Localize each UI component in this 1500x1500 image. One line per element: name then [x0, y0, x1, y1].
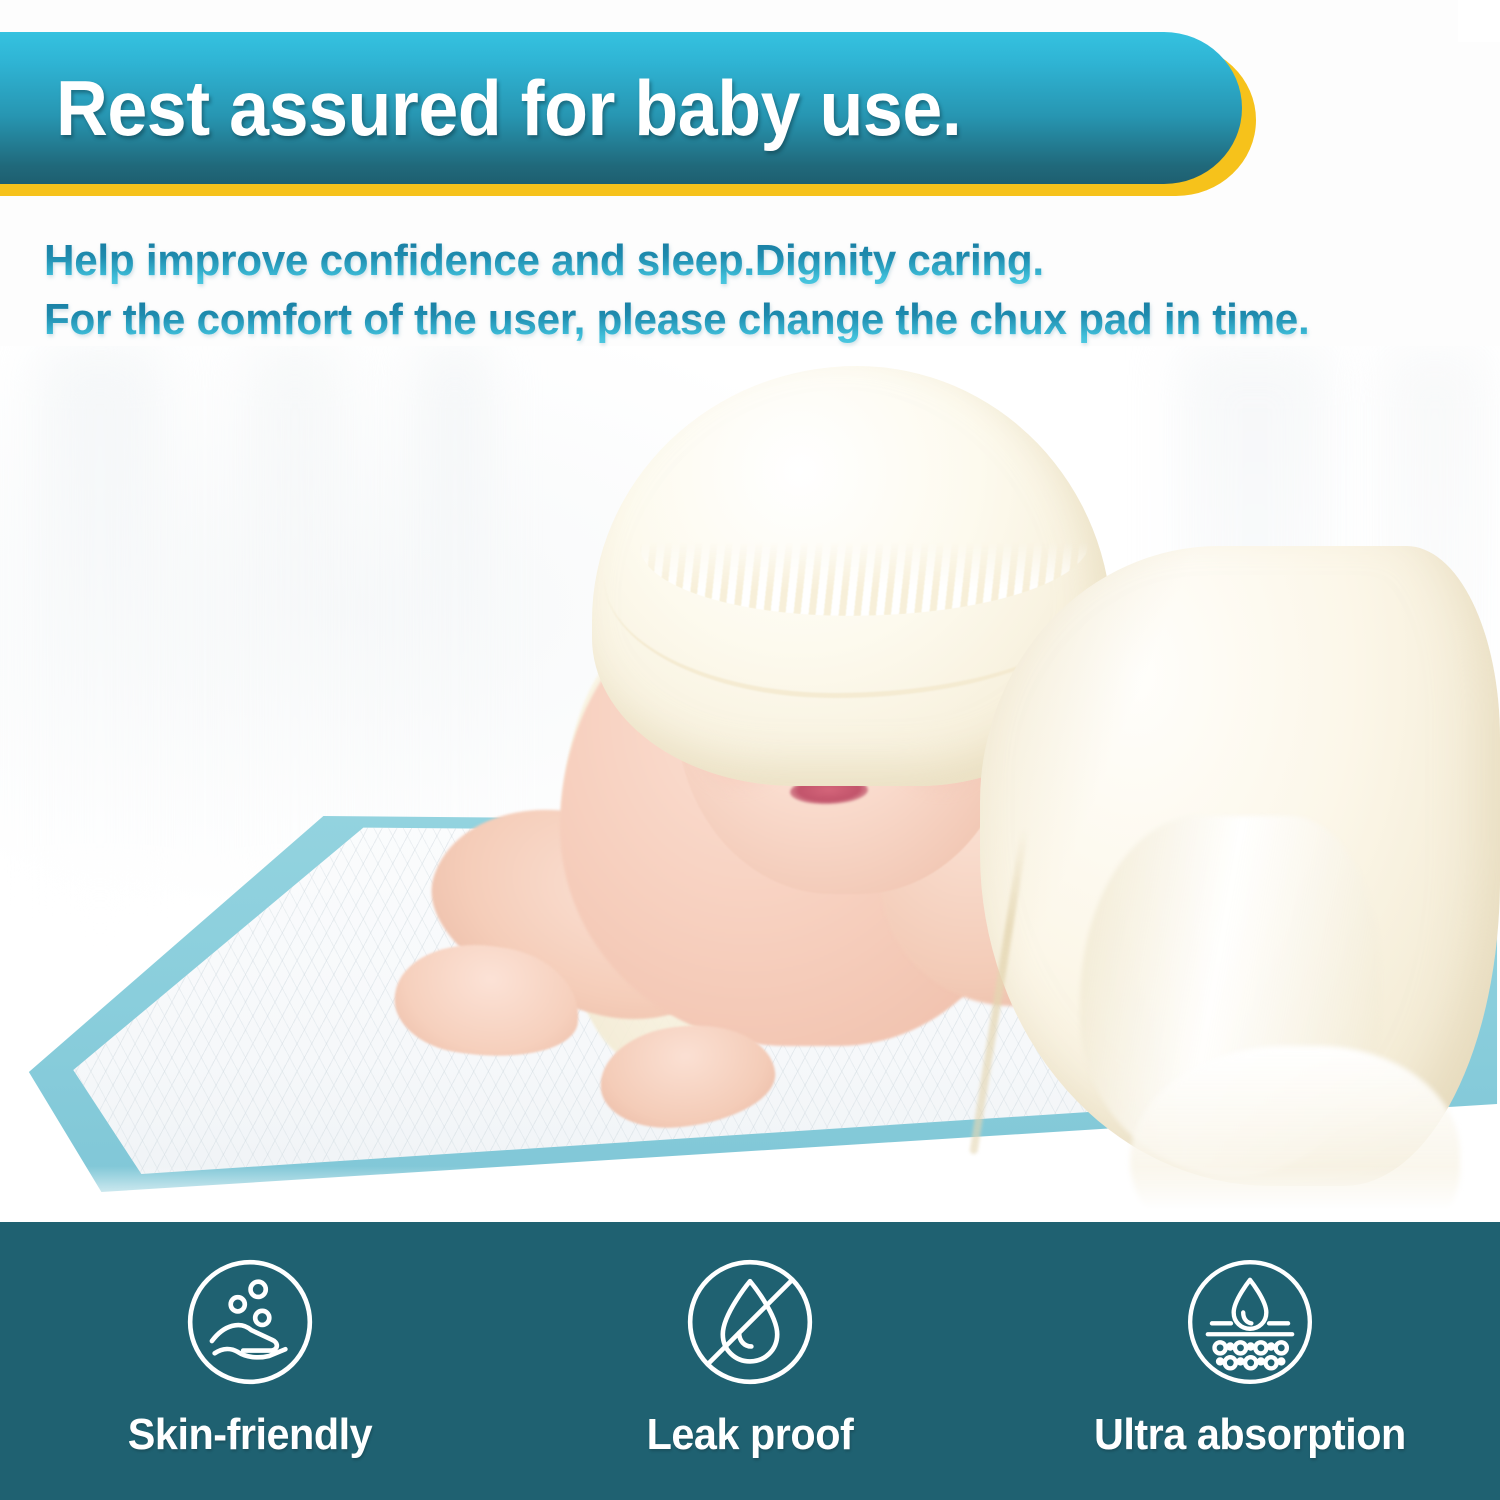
feature-skin-friendly: Skin-friendly — [40, 1254, 460, 1460]
feature-label: Skin-friendly — [128, 1410, 372, 1460]
header-banner: Rest assured for baby use. — [0, 0, 1262, 216]
page-title: Rest assured for baby use. — [56, 69, 961, 147]
subtitle-block: Help improve confidence and sleep.Dignit… — [44, 232, 1484, 349]
feature-ultra-absorption: Ultra absorption — [1040, 1254, 1460, 1460]
feature-label: Leak proof — [647, 1410, 854, 1460]
product-infographic: Rest assured for baby use. Help improve … — [0, 0, 1500, 1500]
absorption-layers-icon — [1182, 1254, 1318, 1390]
banner-body: Rest assured for baby use. — [0, 32, 1242, 184]
no-water-drop-icon — [682, 1254, 818, 1390]
subtitle-line-2: For the comfort of the user, please chan… — [44, 291, 1426, 350]
feature-leak-proof: Leak proof — [540, 1254, 960, 1460]
hand-bubbles-icon — [182, 1254, 318, 1390]
photo-bottom-fade — [0, 1166, 1500, 1222]
subtitle-line-1: Help improve confidence and sleep.Dignit… — [44, 232, 1426, 291]
product-photo — [0, 346, 1500, 1222]
corner-notch — [1458, 0, 1500, 42]
feature-bar: Skin-friendly Leak proof — [0, 1222, 1500, 1500]
feature-label: Ultra absorption — [1094, 1410, 1406, 1460]
